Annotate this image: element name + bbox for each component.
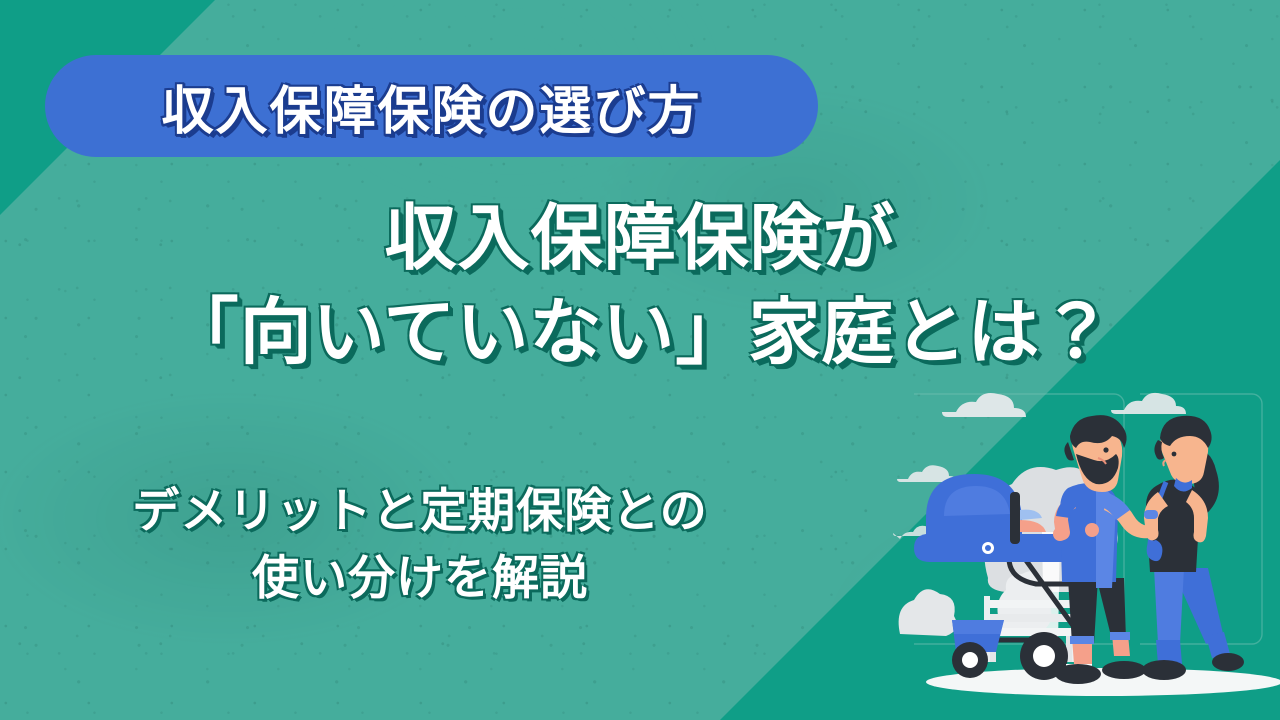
category-badge-label: 収入保障保険の選び方	[45, 55, 818, 157]
page-title-line-2: 「向いていない」家庭とは？	[0, 290, 1280, 378]
category-badge: 収入保障保険の選び方	[45, 55, 818, 157]
bush-shape	[899, 589, 957, 636]
woman-figure	[1142, 416, 1244, 680]
page-title: 収入保障保険が 「向いていない」家庭とは？	[0, 196, 1280, 378]
page-subtitle-line-1: デメリットと定期保険との	[0, 478, 840, 545]
page-title-line-1: 収入保障保険が	[0, 196, 1280, 284]
slide-canvas: 収入保障保険の選び方 収入保障保険が 「向いていない」家庭とは？ デメリットと定…	[0, 0, 1280, 720]
page-subtitle-line-2: 使い分けを解説	[0, 545, 840, 612]
page-subtitle: デメリットと定期保険との 使い分けを解説	[0, 478, 840, 611]
couple-with-stroller-illustration	[892, 382, 1280, 720]
